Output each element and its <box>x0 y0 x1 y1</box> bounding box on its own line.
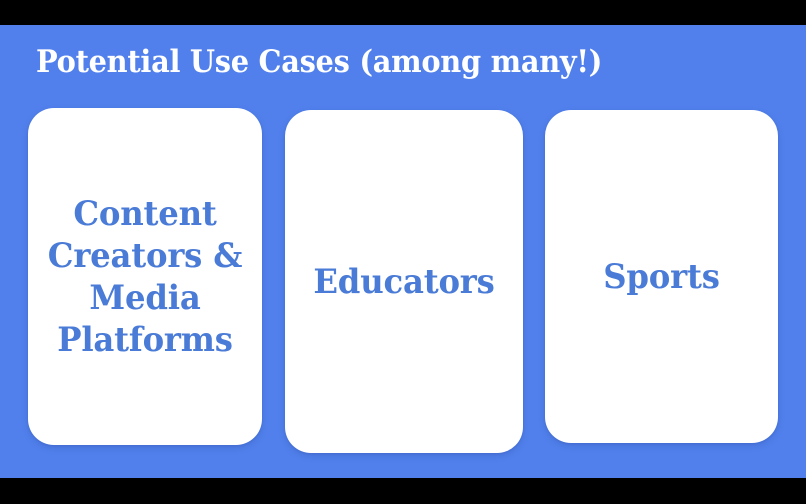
page-title: Potential Use Cases (among many!) <box>36 43 724 81</box>
letterbox-bar-bottom <box>0 478 806 504</box>
use-case-card-label: Sports <box>551 256 772 298</box>
slide-root: Potential Use Cases (among many!) Conten… <box>0 0 806 504</box>
use-case-card-sports[interactable]: Sports <box>545 110 778 443</box>
use-case-card-label: Educators <box>291 261 517 303</box>
slide-canvas: Potential Use Cases (among many!) Conten… <box>0 25 806 478</box>
letterbox-bar-top <box>0 0 806 25</box>
use-case-card-label: Content Creators & Media Platforms <box>34 193 256 361</box>
use-case-card-content-creators[interactable]: Content Creators & Media Platforms <box>28 108 262 445</box>
use-case-card-educators[interactable]: Educators <box>285 110 523 453</box>
